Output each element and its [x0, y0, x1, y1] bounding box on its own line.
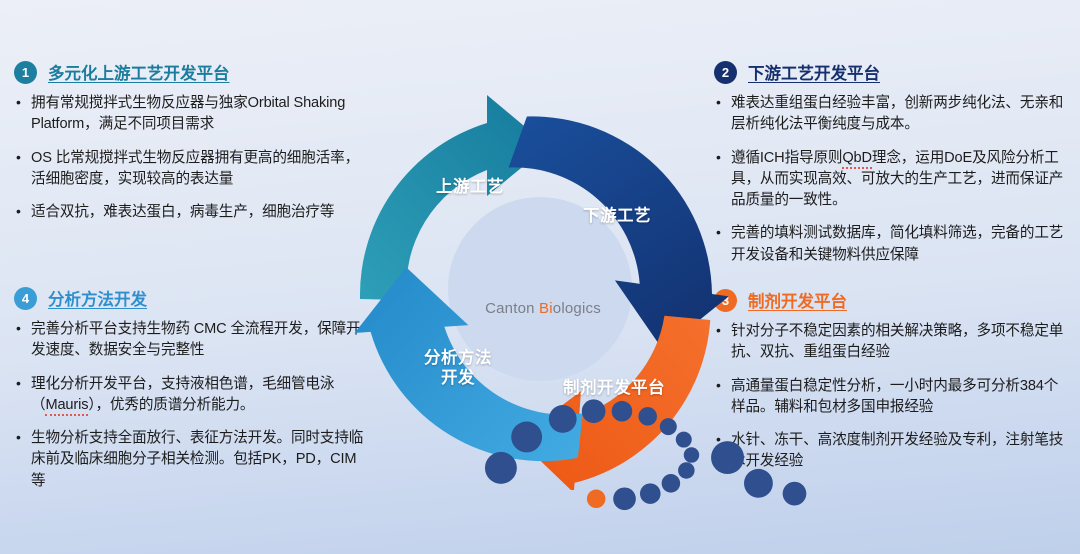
- section-header-analytical: 4 分析方法开发: [14, 286, 366, 310]
- section-upstream: 1 多元化上游工艺开发平台 拥有常规搅拌式生物反应器与独家Orbital Sha…: [14, 60, 366, 223]
- list-item-text-b: ），优秀的质谱分析能力。: [88, 397, 254, 413]
- badge-number-4: 4: [14, 287, 37, 310]
- bullet-list-upstream: 拥有常规搅拌式生物反应器与独家Orbital Shaking Platform，…: [14, 93, 366, 223]
- badge-number-1: 1: [14, 61, 37, 84]
- section-title-formulation: 制剂开发平台: [748, 288, 847, 312]
- slide-canvas: 1 多元化上游工艺开发平台 拥有常规搅拌式生物反应器与独家Orbital Sha…: [0, 0, 1080, 554]
- list-item: 难表达重组蛋白经验丰富，创新两步纯化法、无亲和层析纯化法平衡纯度与成本。: [714, 93, 1072, 136]
- spellcheck-term-mauris: Mauris: [45, 397, 88, 416]
- section-title-analytical: 分析方法开发: [48, 286, 147, 310]
- section-header-formulation: 3 制剂开发平台: [714, 288, 1072, 312]
- list-item: 理化分析开发平台，支持液相色谱，毛细管电泳（Mauris），优秀的质谱分析能力。: [14, 374, 366, 417]
- bullet-list-analytical: 完善分析平台支持生物药 CMC 全流程开发，保障开发速度、数据安全与完整性 理化…: [14, 319, 366, 492]
- section-title-upstream: 多元化上游工艺开发平台: [48, 60, 230, 84]
- bullet-list-formulation: 针对分子不稳定因素的相关解决策略，多项不稳定单抗、双抗、重组蛋白经验 高通量蛋白…: [714, 321, 1072, 473]
- section-header-downstream: 2 下游工艺开发平台: [714, 60, 1072, 84]
- section-analytical: 4 分析方法开发 完善分析平台支持生物药 CMC 全流程开发，保障开发速度、数据…: [14, 286, 366, 492]
- list-item: 水针、冻干、高浓度制剂开发经验及专利，注射笔技术开发经验: [714, 430, 1072, 473]
- section-formulation: 3 制剂开发平台 针对分子不稳定因素的相关解决策略，多项不稳定单抗、双抗、重组蛋…: [714, 288, 1072, 473]
- center-disc: [448, 197, 632, 381]
- list-item: 针对分子不稳定因素的相关解决策略，多项不稳定单抗、双抗、重组蛋白经验: [714, 321, 1072, 364]
- list-item: 遵循ICH指导原则QbD理念，运用DoE及风险分析工具，从而实现高效、可放大的生…: [714, 148, 1072, 212]
- section-header-upstream: 1 多元化上游工艺开发平台: [14, 60, 366, 84]
- section-title-downstream: 下游工艺开发平台: [748, 60, 880, 84]
- spellcheck-term-qbd: QbD: [842, 150, 872, 169]
- logo-accent-dot: [587, 490, 606, 509]
- list-item: 完善的填料测试数据库，简化填料筛选，完备的工艺开发设备和关键物料供应保障: [714, 223, 1072, 266]
- list-item-text-a: 遵循ICH指导原则: [731, 150, 842, 166]
- list-item: 高通量蛋白稳定性分析，一小时内最多可分析384个样品。辅料和包材多国申报经验: [714, 376, 1072, 419]
- list-item: OS 比常规搅拌式生物反应器拥有更高的细胞活率，活细胞密度，实现较高的表达量: [14, 148, 366, 191]
- list-item: 拥有常规搅拌式生物反应器与独家Orbital Shaking Platform，…: [14, 93, 366, 136]
- cycle-diagram: 上游工艺 下游工艺 制剂开发平台 分析方法 开发: [352, 88, 728, 490]
- section-downstream: 2 下游工艺开发平台 难表达重组蛋白经验丰富，创新两步纯化法、无亲和层析纯化法平…: [714, 60, 1072, 266]
- bullet-list-downstream: 难表达重组蛋白经验丰富，创新两步纯化法、无亲和层析纯化法平衡纯度与成本。 遵循I…: [714, 93, 1072, 266]
- badge-number-2: 2: [714, 61, 737, 84]
- list-item: 完善分析平台支持生物药 CMC 全流程开发，保障开发速度、数据安全与完整性: [14, 319, 366, 362]
- list-item: 生物分析支持全面放行、表征方法开发。同时支持临床前及临床细胞分子相关检测。包括P…: [14, 428, 366, 492]
- list-item: 适合双抗，难表达蛋白，病毒生产，细胞治疗等: [14, 202, 366, 223]
- cycle-diagram-svg: [352, 88, 728, 490]
